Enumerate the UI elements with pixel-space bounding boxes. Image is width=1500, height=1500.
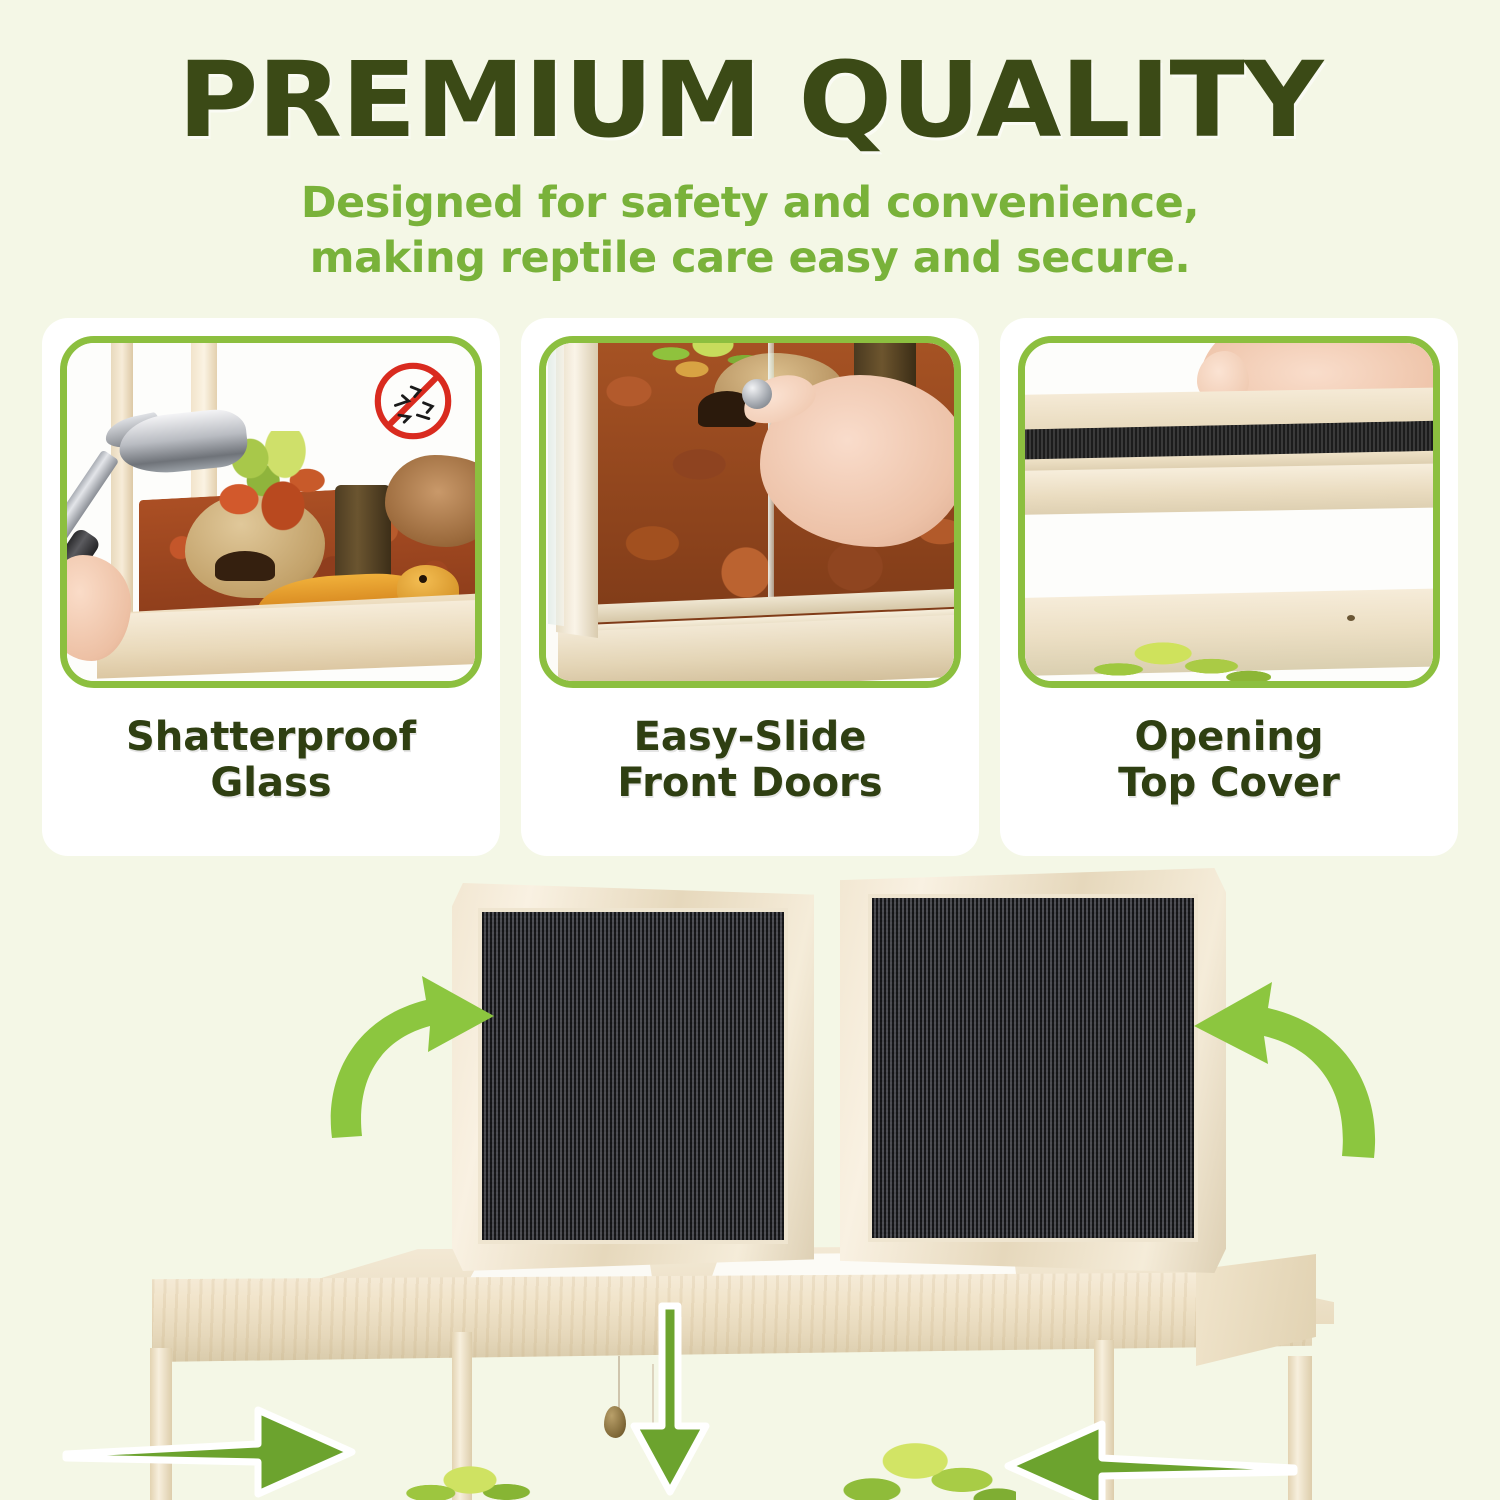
shatterproof-glass-photo (60, 336, 482, 688)
feature-card-shatterproof-glass[interactable]: Shatterproof Glass (42, 318, 500, 856)
mesh-panel (478, 908, 788, 1244)
decorative-plant (400, 1456, 540, 1500)
left-screen-lid[interactable] (452, 883, 814, 1271)
page-subtitle: Designed for safety and convenience, mak… (0, 176, 1500, 286)
subtitle-line-1: Designed for safety and convenience, (0, 176, 1500, 231)
terrarium-frame-post (1288, 1356, 1312, 1500)
feature-cards-row: Shatterproof Glass Easy-Slide Front Door… (42, 318, 1458, 856)
card-label-line-1: Opening (1118, 714, 1340, 760)
no-shatter-icon (369, 357, 457, 445)
easy-slide-doors-photo (539, 336, 961, 688)
card-label-line-1: Shatterproof (126, 714, 416, 760)
latch-knob (604, 1406, 626, 1438)
right-screen-lid[interactable] (840, 868, 1226, 1273)
sliding-door-knob-icon (742, 379, 772, 409)
latch-cord (618, 1356, 620, 1410)
wood-grain-texture (152, 1272, 1312, 1362)
card-label-line-1: Easy-Slide (617, 714, 882, 760)
feature-card-easy-slide-front-doors[interactable]: Easy-Slide Front Doors (521, 318, 979, 856)
feature-card-label: Easy-Slide Front Doors (617, 714, 882, 807)
mesh-panel (868, 894, 1198, 1242)
terrarium-frame-post (1094, 1340, 1114, 1500)
terrarium-frame-post (150, 1348, 172, 1500)
card-label-line-2: Front Doors (617, 760, 882, 806)
page-title: PREMIUM QUALITY (0, 48, 1500, 152)
header: PREMIUM QUALITY Designed for safety and … (0, 0, 1500, 286)
opening-top-cover-photo (1018, 336, 1440, 688)
decorative-plant (836, 1430, 1016, 1500)
card-label-line-2: Glass (126, 760, 416, 806)
card-label-line-2: Top Cover (1118, 760, 1340, 806)
latch-cord (652, 1364, 654, 1450)
feature-card-label: Opening Top Cover (1118, 714, 1340, 807)
product-photo-scene (0, 856, 1500, 1500)
feature-card-opening-top-cover[interactable]: Opening Top Cover (1000, 318, 1458, 856)
feature-card-label: Shatterproof Glass (126, 714, 416, 807)
subtitle-line-2: making reptile care easy and secure. (0, 231, 1500, 286)
